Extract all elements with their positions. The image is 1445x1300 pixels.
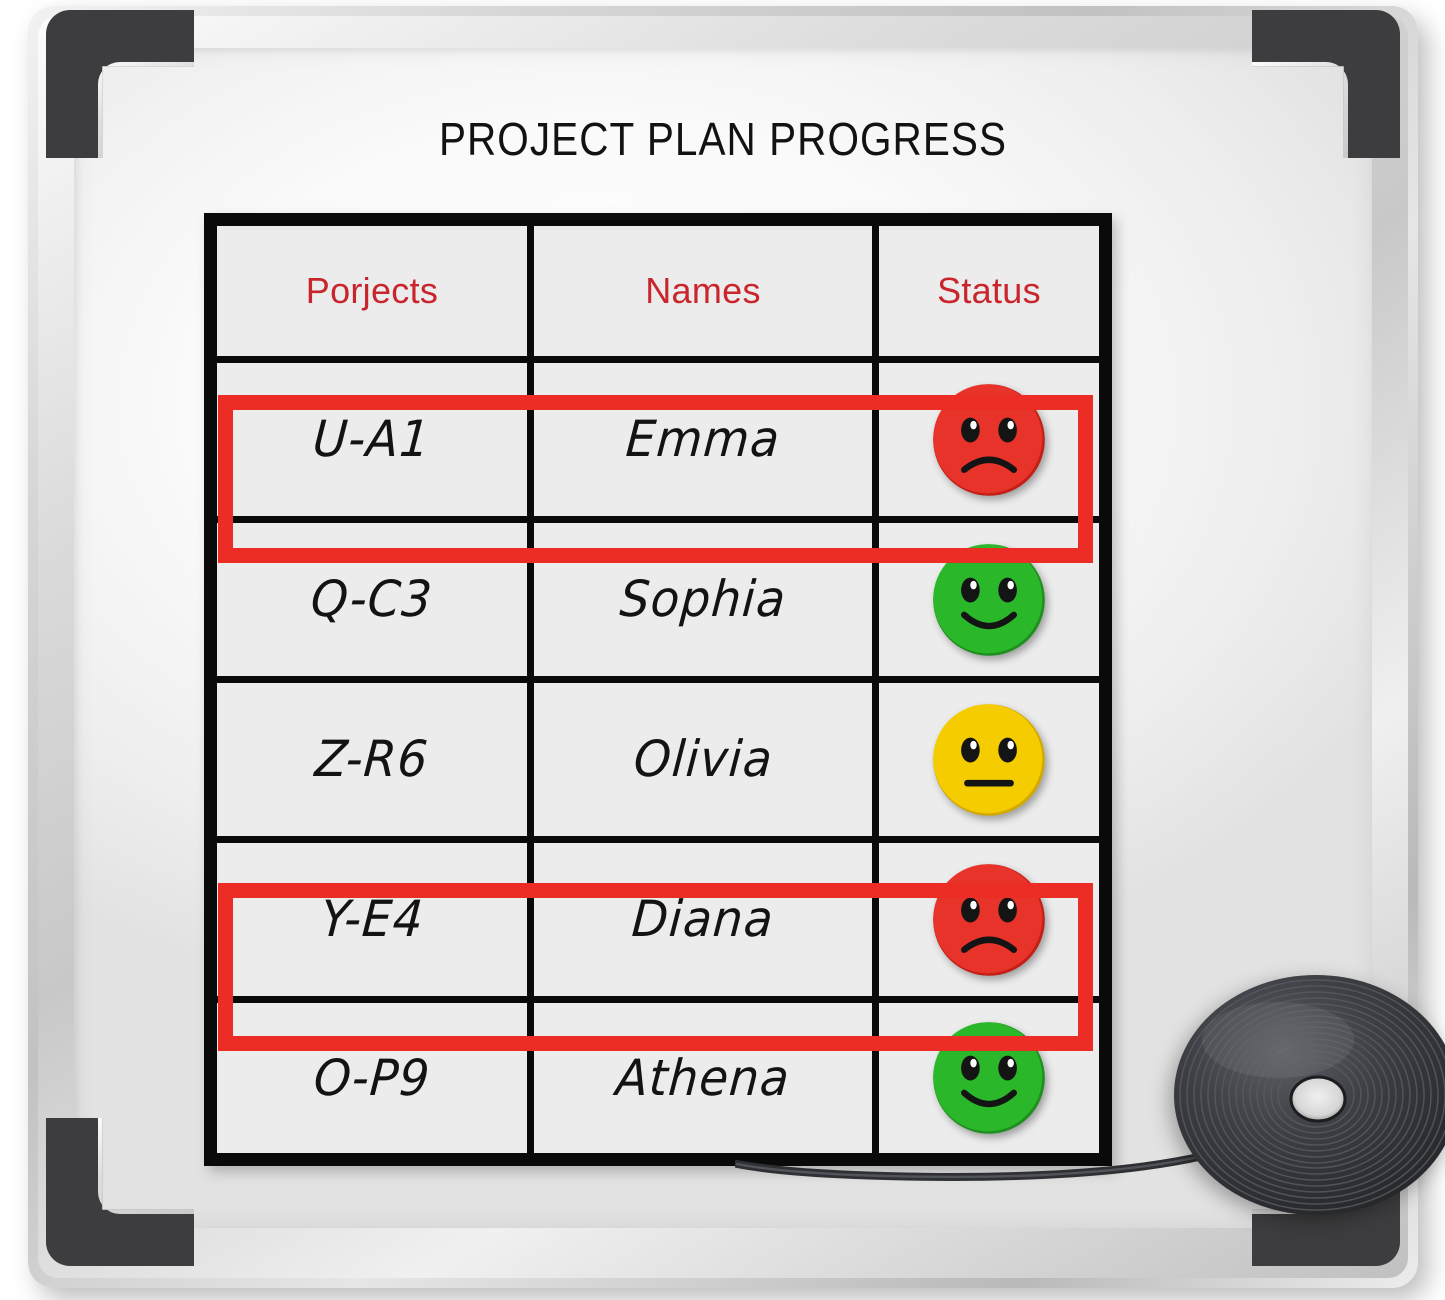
project-cell: O-P9 (211, 1000, 531, 1160)
status-cell (876, 1000, 1106, 1160)
column-header-names: Names (531, 220, 876, 360)
table-row: Z-R6 Olivia (211, 680, 1106, 840)
status-cell (876, 360, 1106, 520)
person-name: Olivia (632, 730, 775, 788)
status-cell (876, 840, 1106, 1000)
whiteboard-scene: PROJECT PLAN PROGRESS Porjects Names Sta… (0, 0, 1445, 1300)
name-cell: Diana (531, 840, 876, 1000)
neutral-face-icon (927, 698, 1051, 822)
person-name: Diana (630, 890, 776, 948)
page-title: PROJECT PLAN PROGRESS (152, 112, 1294, 166)
project-cell: Q-C3 (211, 520, 531, 680)
name-cell: Athena (531, 1000, 876, 1160)
table-row: O-P9 Athena (211, 1000, 1106, 1160)
column-header-projects: Porjects (211, 220, 531, 360)
person-name: Sophia (618, 570, 788, 628)
project-code: U-A1 (311, 410, 432, 468)
project-cell: U-A1 (211, 360, 531, 520)
table-body: U-A1 Emma (211, 360, 1106, 1160)
project-code: Z-R6 (313, 730, 430, 788)
table-row: Y-E4 Diana (211, 840, 1106, 1000)
progress-table-wrap: Porjects Names Status U-A1 Emma (204, 213, 1099, 1158)
name-cell: Sophia (531, 520, 876, 680)
table-header-row: Porjects Names Status (211, 220, 1106, 360)
project-code: O-P9 (312, 1049, 432, 1107)
status-cell (876, 680, 1106, 840)
column-header-status: Status (876, 220, 1106, 360)
person-name: Emma (624, 410, 782, 468)
magnetic-tape-roll (1166, 968, 1445, 1218)
happy-face-icon (927, 1016, 1051, 1140)
person-name: Athena (614, 1049, 792, 1107)
table-row: Q-C3 Sophia (211, 520, 1106, 680)
table-row: U-A1 Emma (211, 360, 1106, 520)
project-code: Q-C3 (309, 570, 435, 628)
sad-face-icon (927, 378, 1051, 502)
name-cell: Olivia (531, 680, 876, 840)
sad-face-icon (927, 858, 1051, 982)
progress-table: Porjects Names Status U-A1 Emma (204, 213, 1112, 1166)
name-cell: Emma (531, 360, 876, 520)
project-cell: Y-E4 (211, 840, 531, 1000)
project-cell: Z-R6 (211, 680, 531, 840)
project-code: Y-E4 (319, 890, 426, 948)
happy-face-icon (927, 538, 1051, 662)
status-cell (876, 520, 1106, 680)
